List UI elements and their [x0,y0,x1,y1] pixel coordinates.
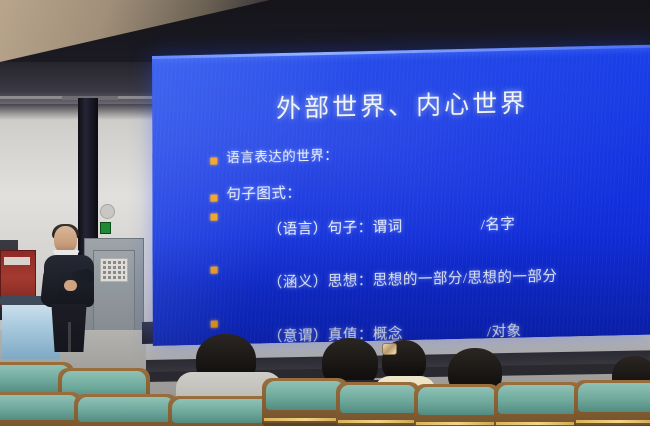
seat [74,394,178,426]
exit-indicator-light [100,222,111,234]
seat-rows [0,352,650,426]
lecture-hall-photo: 外部世界、内心世界 语言表达的世界： 句子图式： （语言）句子：谓词/名字 [0,0,650,426]
presenter-head [54,226,77,253]
screen-light-falloff [152,45,650,346]
seat [574,380,650,426]
projection-screen: 外部世界、内心世界 语言表达的世界： 句子图式： （语言）句子：谓词/名字 [152,45,650,346]
seat [0,392,82,426]
door-notice-plate [100,258,128,282]
presenter-hand [64,280,77,291]
presenter-leg-gap [68,322,71,352]
wall-speaker [100,204,115,219]
seat [494,382,582,426]
seat [168,396,276,426]
presenter [40,226,100,352]
seat [414,384,500,426]
seat [336,382,420,426]
